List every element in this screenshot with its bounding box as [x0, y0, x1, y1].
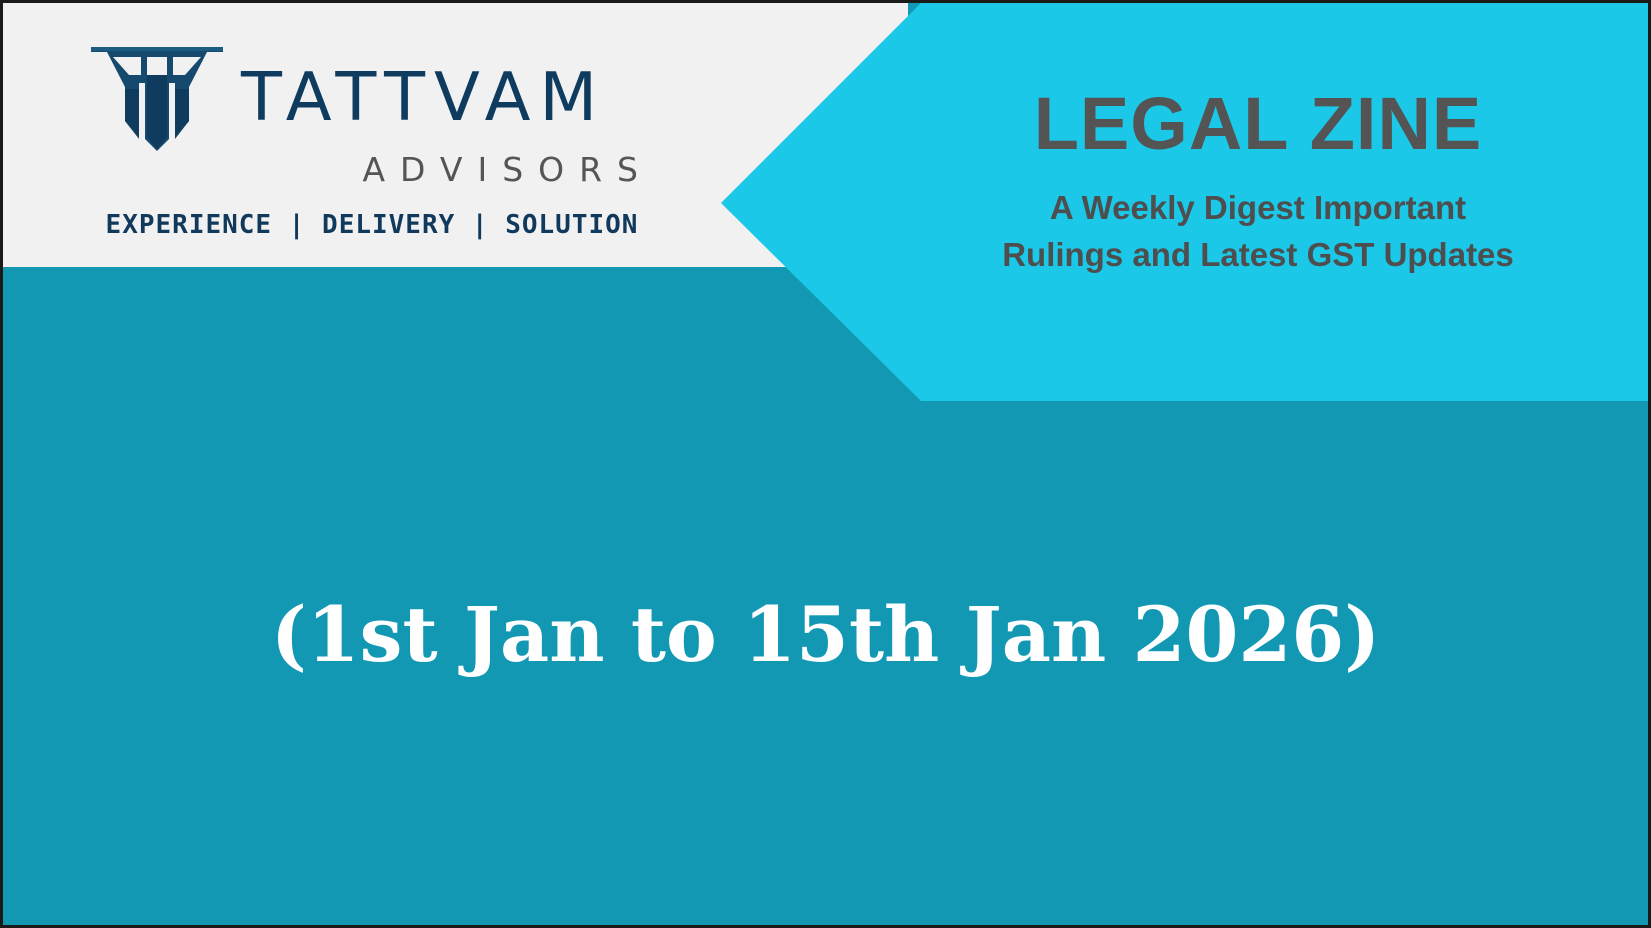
- masthead: LEGAL ZINE A Weekly Digest Important Rul…: [908, 85, 1608, 278]
- masthead-subtitle-line-1: A Weekly Digest Important: [908, 185, 1608, 232]
- brand-logo-block: TATTVAM ADVISORS EXPERIENCE | DELIVERY |…: [89, 43, 659, 242]
- brand-tagline: EXPERIENCE | DELIVERY | SOLUTION: [89, 208, 655, 242]
- tattvam-trident-t-logo-icon: [89, 43, 225, 151]
- date-range-title: (1st Jan to 15th Jan 2026): [3, 591, 1648, 678]
- brand-subword: ADVISORS: [89, 153, 659, 186]
- masthead-subtitle-line-2: Rulings and Latest GST Updates: [908, 232, 1608, 279]
- legal-zine-cover-slide: TATTVAM ADVISORS EXPERIENCE | DELIVERY |…: [0, 0, 1651, 928]
- logo-row: TATTVAM: [89, 43, 659, 151]
- masthead-title: LEGAL ZINE: [908, 85, 1608, 163]
- brand-wordmark: TATTVAM: [241, 64, 606, 131]
- masthead-subtitle: A Weekly Digest Important Rulings and La…: [908, 185, 1608, 279]
